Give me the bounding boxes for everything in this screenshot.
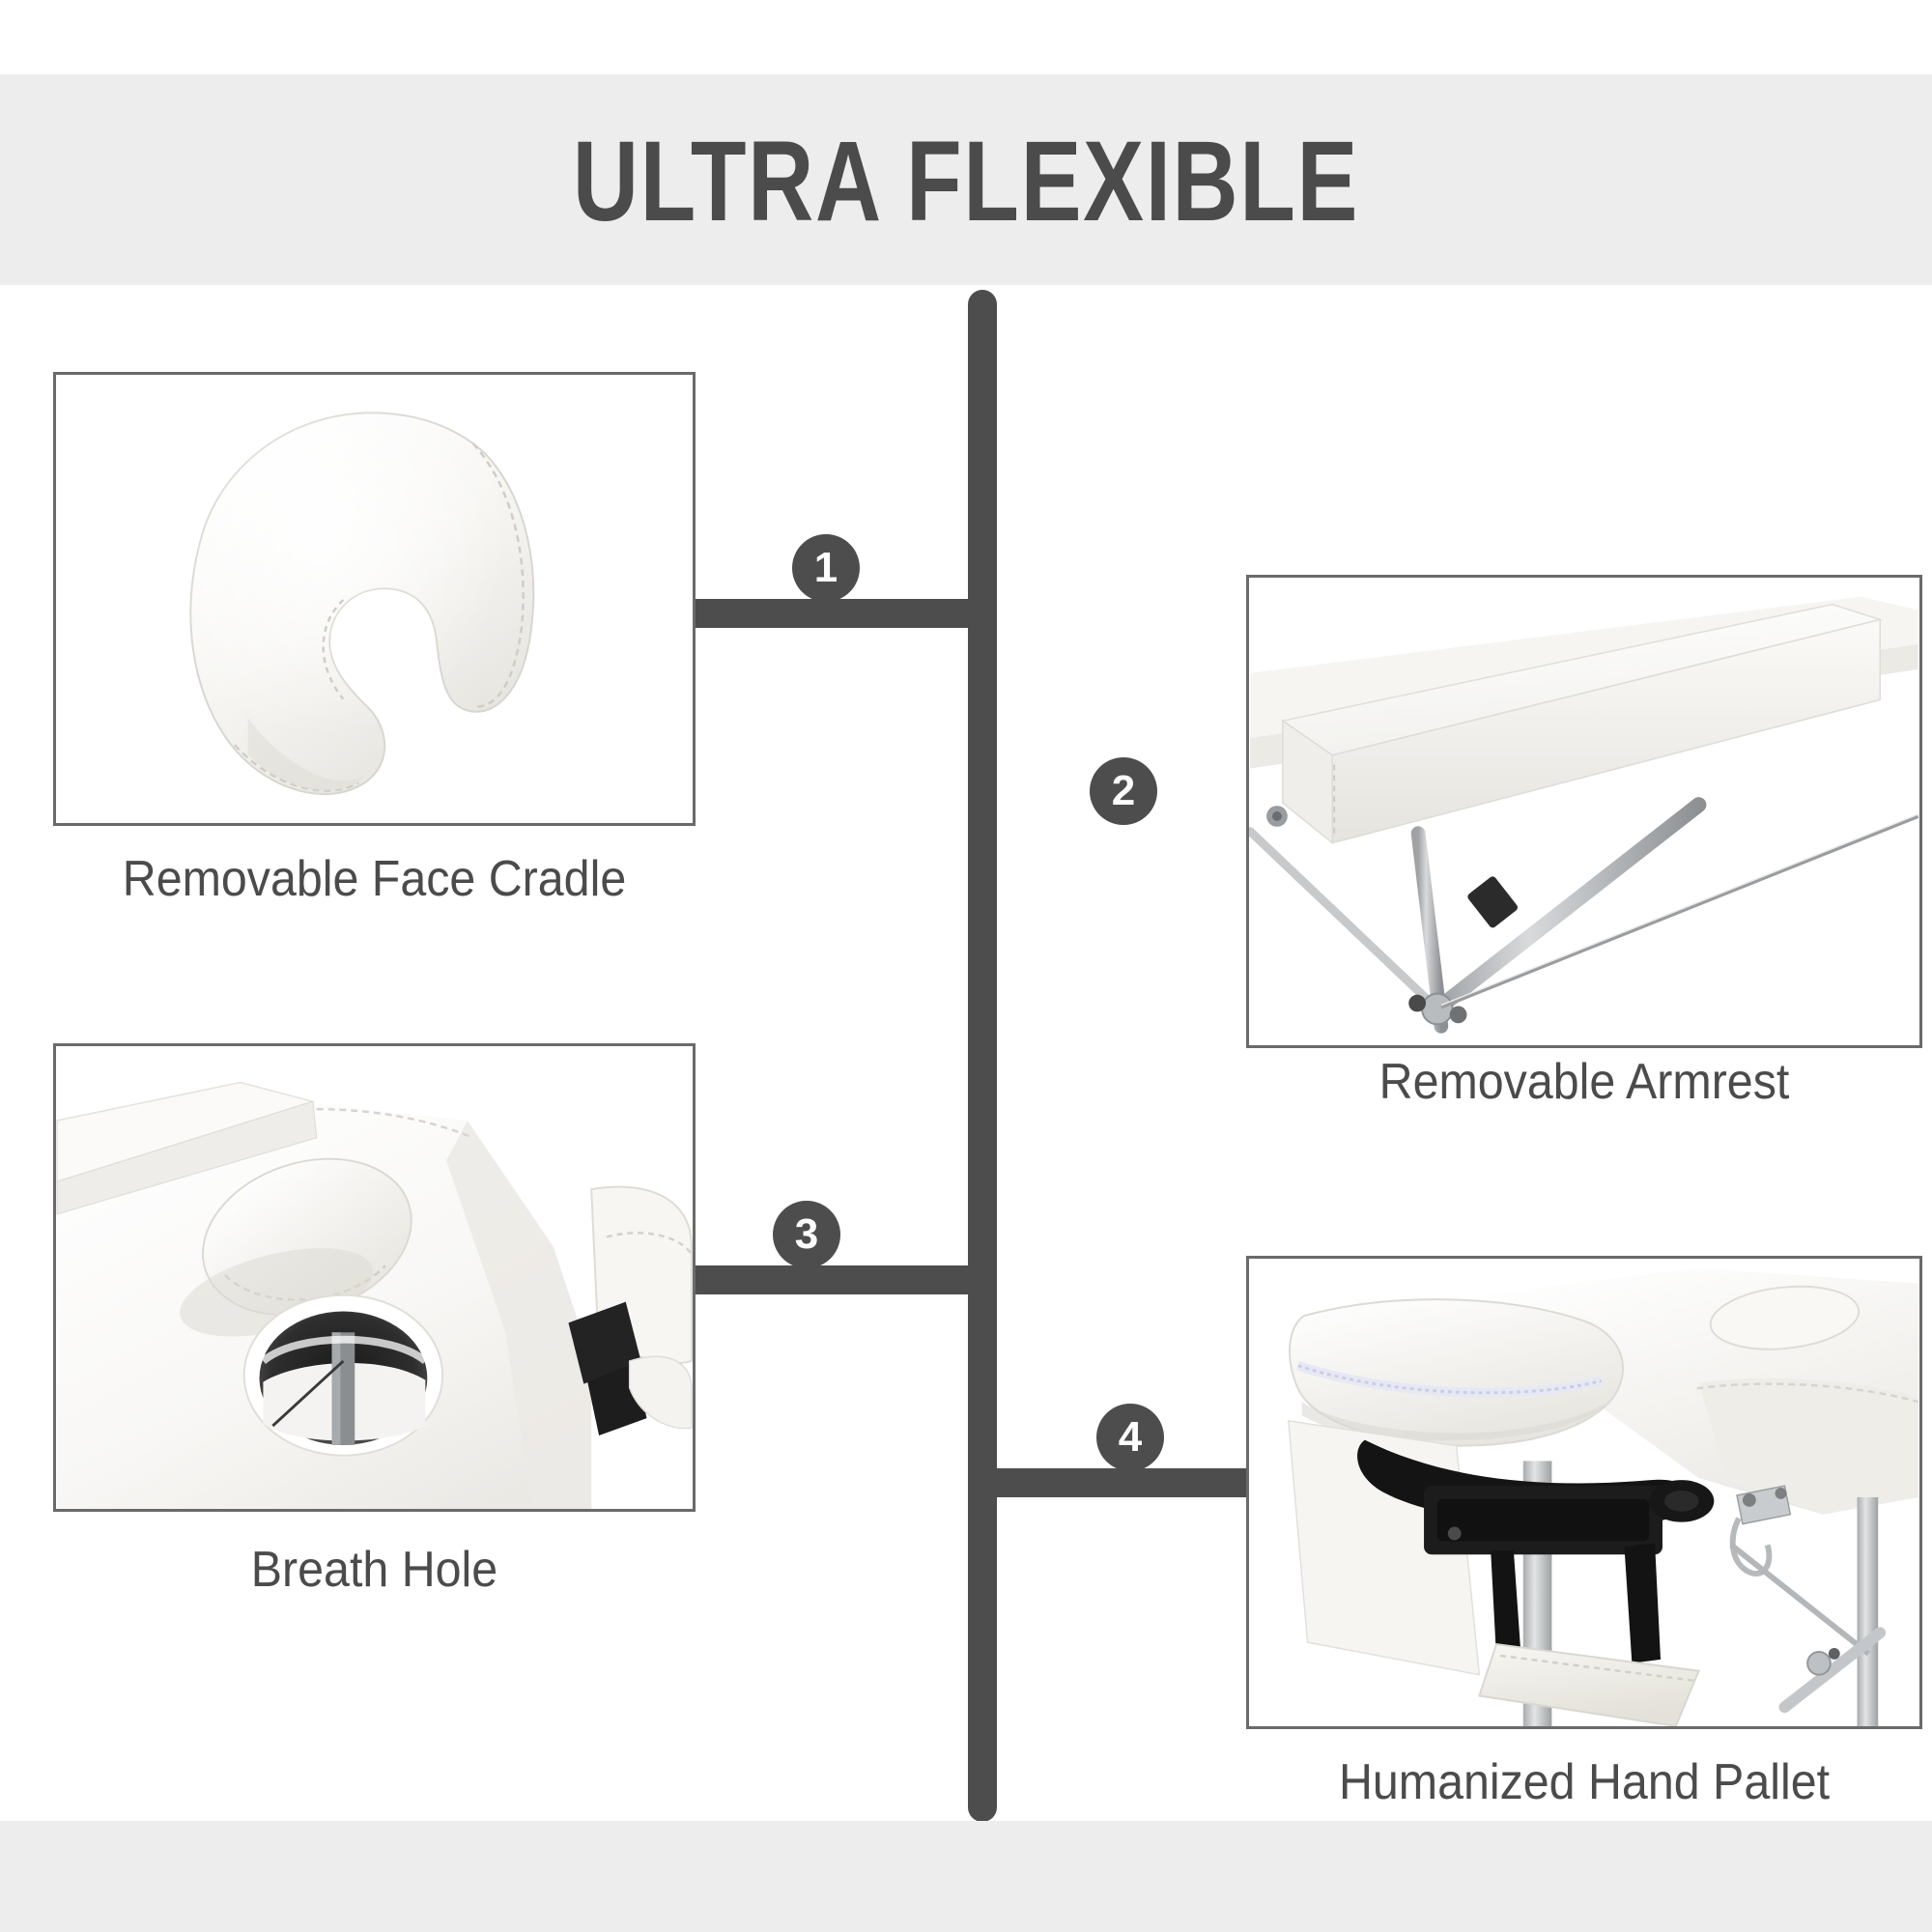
connector-branch-1 xyxy=(667,599,985,628)
feature-frame-1 xyxy=(53,372,696,826)
feature-frame-2 xyxy=(1246,575,1922,1048)
feature-frame-3 xyxy=(53,1043,696,1512)
breath-hole-photo xyxy=(56,1046,693,1509)
hand-pallet-photo xyxy=(1249,1259,1919,1726)
feature-caption-3: Breath Hole xyxy=(75,1541,672,1599)
infographic-canvas: ULTRA FLEXIBLE 1 2 3 4 xyxy=(0,0,1932,1932)
feature-card-3 xyxy=(53,1043,696,1512)
feature-card-4 xyxy=(1246,1256,1922,1729)
step-badge-2: 2 xyxy=(1090,757,1157,825)
armrest-photo xyxy=(1249,578,1919,1045)
step-badge-1: 1 xyxy=(792,534,860,602)
page-title: ULTRA FLEXIBLE xyxy=(193,85,1739,278)
feature-caption-2: Removable Armrest xyxy=(1270,1053,1899,1111)
connector-trunk-vertical xyxy=(968,290,997,1822)
face-cradle-photo xyxy=(56,375,693,823)
connector-branch-3 xyxy=(667,1265,985,1294)
feature-caption-4: Humanized Hand Pallet xyxy=(1270,1753,1899,1811)
footer-band xyxy=(0,1821,1932,1932)
step-badge-4: 4 xyxy=(1096,1404,1164,1471)
connector-branch-4 xyxy=(978,1468,1253,1497)
feature-card-1 xyxy=(53,372,696,826)
feature-caption-1: Removable Face Cradle xyxy=(75,850,672,908)
feature-card-2 xyxy=(1246,575,1922,1048)
step-badge-3: 3 xyxy=(773,1201,840,1268)
feature-frame-4 xyxy=(1246,1256,1922,1729)
